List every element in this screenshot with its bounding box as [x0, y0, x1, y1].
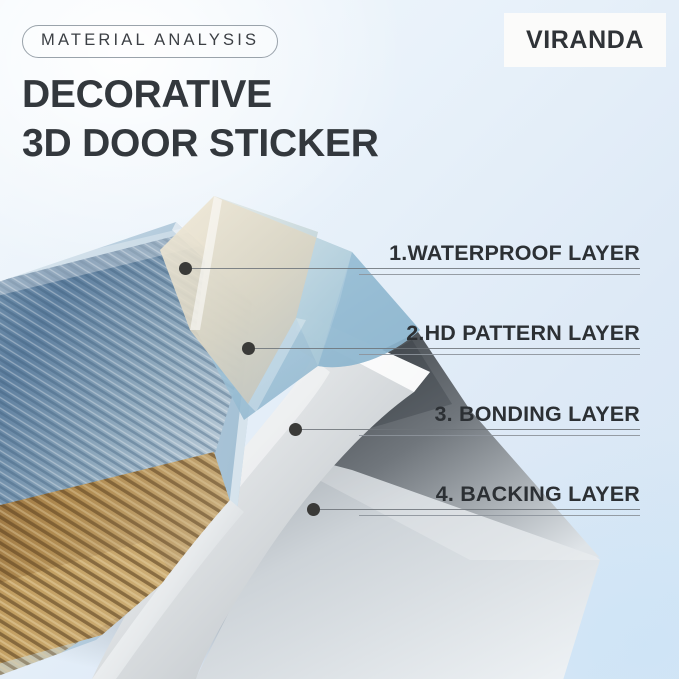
layer-label-4-rule: [359, 515, 640, 516]
curl-backing-shape: [92, 222, 430, 679]
layer-label-3: 3. BONDING LAYER: [359, 404, 640, 436]
callout-dot-2: [242, 342, 255, 355]
callout-dot-4: [307, 503, 320, 516]
brand-logo: VIRANDA: [504, 13, 666, 67]
page-title: DECORATIVE 3D DOOR STICKER: [22, 70, 379, 168]
badge-label: MATERIAL ANALYSIS: [41, 31, 259, 49]
layer-label-2: 2.HD PATTERN LAYER: [359, 323, 640, 355]
title-line-1: DECORATIVE: [22, 70, 379, 119]
layer-label-2-text: 2.HD PATTERN LAYER: [359, 323, 640, 345]
layer-label-1-rule: [359, 274, 640, 275]
layer-label-1: 1.WATERPROOF LAYER: [359, 243, 640, 275]
layer-label-3-rule: [359, 435, 640, 436]
waterproof-layer-film: [160, 196, 352, 412]
layer-label-4: 4. BACKING LAYER: [359, 484, 640, 516]
callout-dot-3: [289, 423, 302, 436]
pattern-layer-film: [196, 196, 420, 420]
material-analysis-badge: MATERIAL ANALYSIS: [22, 25, 278, 58]
backing-layer-shape: [190, 395, 600, 679]
title-line-2: 3D DOOR STICKER: [22, 119, 379, 168]
layer-label-3-text: 3. BONDING LAYER: [359, 404, 640, 426]
layer-label-1-text: 1.WATERPROOF LAYER: [359, 243, 640, 265]
layer-label-2-rule: [359, 354, 640, 355]
brand-name: VIRANDA: [526, 26, 644, 55]
infographic-canvas: MATERIAL ANALYSIS DECORATIVE 3D DOOR STI…: [0, 0, 679, 679]
layer-label-4-text: 4. BACKING LAYER: [359, 484, 640, 506]
printed-photo-face: [0, 200, 300, 679]
callout-dot-1: [179, 262, 192, 275]
bonding-layer-shape: [268, 332, 600, 558]
